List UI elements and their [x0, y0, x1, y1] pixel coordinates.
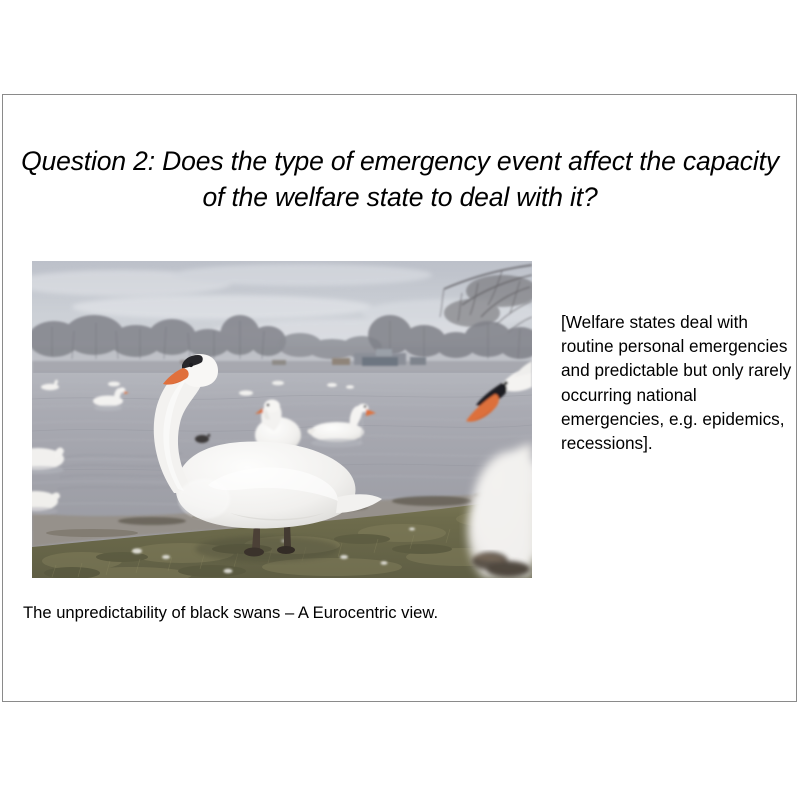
photo-caption: The unpredictability of black swans – A …	[23, 602, 438, 624]
swan-lake-photo	[32, 261, 532, 578]
page-title: Question 2: Does the type of emergency e…	[21, 143, 779, 215]
slide-canvas: Question 2: Does the type of emergency e…	[2, 94, 797, 702]
body-text-block: [Welfare states deal with routine person…	[561, 310, 793, 455]
